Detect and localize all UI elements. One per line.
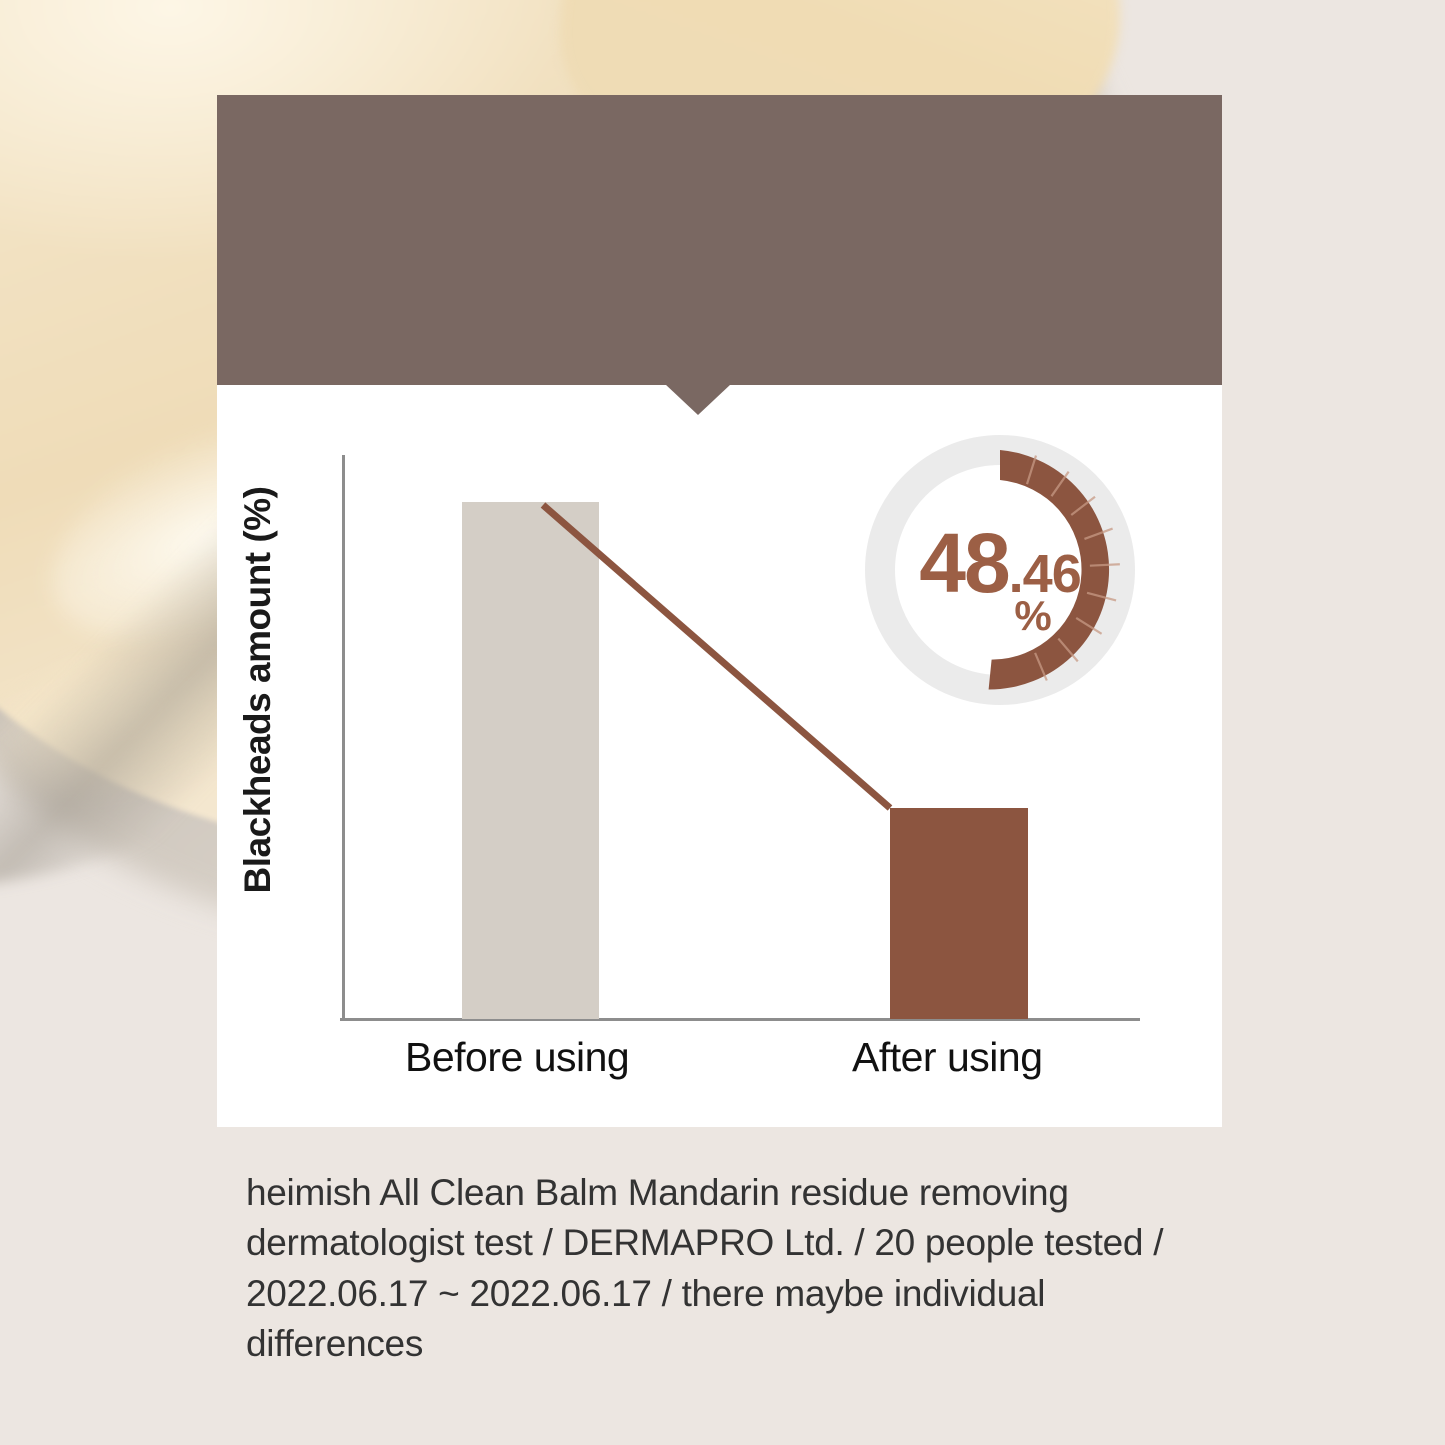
headline-banner bbox=[217, 95, 1222, 385]
x-tick-label-before: Before using bbox=[405, 1034, 629, 1081]
x-tick-label-after: After using bbox=[852, 1034, 1043, 1081]
headline-banner-tail-icon bbox=[665, 384, 731, 415]
bar-before-using bbox=[462, 502, 599, 1019]
bar-after-using bbox=[890, 808, 1028, 1019]
y-axis-label: Blackheads amount (%) bbox=[237, 480, 279, 900]
promo-infographic: Improves 48.46% of blackheads Blackheads… bbox=[0, 0, 1445, 1445]
donut-gauge bbox=[855, 425, 1145, 715]
study-caption: heimish All Clean Balm Mandarin residue … bbox=[246, 1168, 1196, 1369]
y-axis-line bbox=[342, 455, 345, 1021]
